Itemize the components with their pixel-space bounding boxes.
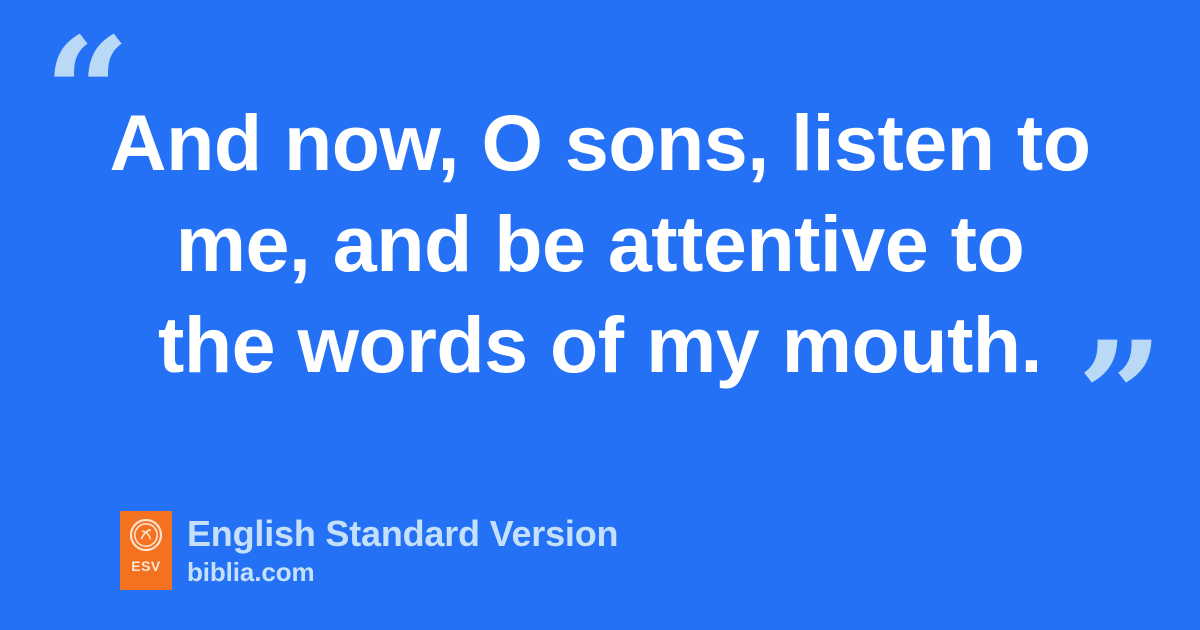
verse-line-1: And now, O sons, listen to — [60, 92, 1140, 193]
attribution-text-group: English Standard Version biblia.com — [187, 511, 618, 588]
verse-card: “ And now, O sons, listen to me, and be … — [0, 0, 1200, 630]
attribution-block: ESV English Standard Version biblia.com — [120, 511, 618, 590]
verse-text: And now, O sons, listen to me, and be at… — [60, 92, 1140, 395]
closing-quote-icon: ” — [1077, 322, 1157, 472]
esv-seal-icon — [130, 519, 162, 551]
esv-logo-abbreviation: ESV — [131, 559, 161, 573]
site-url-label: biblia.com — [187, 556, 618, 588]
esv-logo-badge: ESV — [120, 511, 172, 590]
verse-line-3: the words of my mouth. — [60, 294, 1140, 395]
bible-version-name: English Standard Version — [187, 512, 618, 556]
verse-line-2: me, and be attentive to — [60, 193, 1140, 294]
